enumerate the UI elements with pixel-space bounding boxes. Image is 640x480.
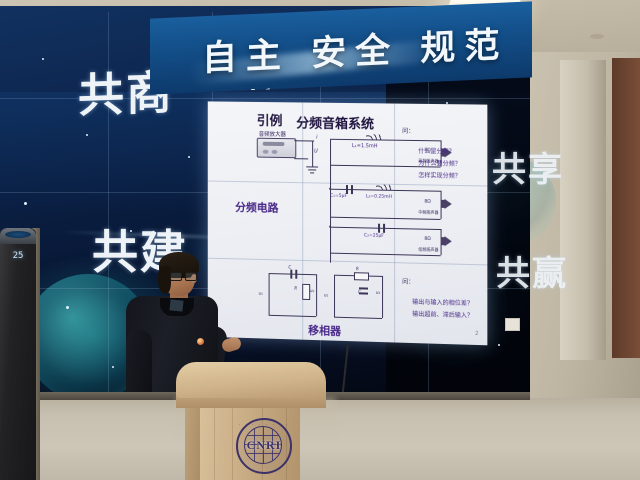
load-low-label: 8Ω [424,237,430,242]
capacitor-mid-label: C₁=5μF [330,194,347,199]
speaker-mid-label: 中频扬声器 [418,209,438,215]
slide-title: 分频音箱系统 [296,112,374,132]
ps-right-in-label: u₁ [324,292,328,297]
question-marker-top: 问： [402,126,414,135]
air-purifier [0,228,36,480]
inductor-mid [376,185,392,191]
star [42,58,44,60]
speaker-low-icon [445,236,452,246]
star [66,306,69,309]
ps-left-shunt-label: R [294,286,297,291]
purifier-indicator-ring [5,231,31,238]
podium-desk [176,362,326,398]
ps-right-right-wire [382,276,383,318]
podium-grain [214,406,215,480]
slide-seam-h2 [208,258,488,266]
inductor-high-label: L₁=1.5mH [352,143,378,149]
ps-right-shunt-label: C [358,289,361,294]
audio-amplifier-icon [257,138,296,158]
circuit-node [329,226,331,228]
purifier-display: 25 [6,250,30,263]
ps-right-bottom [334,317,382,319]
wire-bus-return [312,141,313,167]
star [188,156,190,158]
star [498,344,500,346]
question-bottom-2: 输出超前、滞后输入？ [412,309,473,320]
wall-character-gongxiang: 共享 [492,142,564,191]
wall-outlet[interactable] [505,318,520,331]
star [86,134,88,136]
wire-bus-vertical [330,139,331,263]
star [112,366,114,368]
slide-seam-v1 [302,102,303,339]
wire-low-top [330,227,441,230]
speaker-mid-icon [445,199,452,209]
presenter-shirt [169,299,183,311]
question-bottom-1: 输出与输入的相位差？ [412,297,473,308]
slide-title-prefix: 引例 [257,110,283,129]
ps-left-in-label: u₁ [259,291,263,296]
ps-left-resistor [302,284,310,300]
ps-right-in [334,275,335,317]
ps-right-out-label: u₂ [376,290,380,295]
question-top-3: 怎样实现分频？ [418,170,461,180]
wire-mid-bottom [330,217,441,220]
ceiling-vent [590,34,604,39]
circuit-node [329,188,331,190]
slide-page-number: 2 [475,331,478,337]
photo-scene: 共商 共建 共享 共赢 自主 安全 规范 可控 引例 分频音箱系统 音频放大器 … [0,0,640,480]
ps-left-top [269,273,317,275]
capacitor-low-label: C₂=25μF [364,233,384,238]
slide-seam-h1 [208,181,488,187]
source-label-i: i [316,135,317,141]
phase-shifter-label: 移相器 [308,322,341,339]
wire-low-bottom [330,253,441,257]
ps-left-right-wire [316,274,317,316]
question-top-1: 什么是分频？ [418,146,454,156]
ps-left-out-label: u₂ [310,288,314,293]
source-label-u: U [314,149,318,155]
speaker-low-label: 低频扬声器 [418,247,438,254]
podium-grain [232,406,233,480]
inductor-high [366,134,382,140]
wire-amp-out-bottom [294,158,308,159]
presenter-hair-side [158,266,171,294]
inductor-mid-label: L₂=0.25mH [366,194,392,200]
door-frame [612,58,640,358]
emblem-label: CNRI [238,438,290,453]
wall-column [560,60,606,360]
wall-character-gongying: 共赢 [496,246,568,295]
wire-high-top [330,139,441,142]
ps-left-bottom [269,315,317,317]
ps-right-series-label: R [356,266,359,271]
ps-left-in [269,273,270,315]
ps-right-resistor [354,272,369,280]
mid-circuit-label: 分频电路 [235,199,278,216]
question-marker-bottom: 问： [402,276,414,285]
ps-left-series-label: C [288,265,291,270]
star [24,202,27,205]
lapel-pin-icon [197,338,204,345]
wire-amp-out-top [294,140,314,141]
emblem-arc-dots: · · · · · · · · [238,422,290,427]
load-mid-label: 8Ω [424,199,430,204]
presentation-slide: 引例 分频音箱系统 音频放大器 i U L₁=1.5mH 8Ω 高频扬声器 [208,101,488,345]
question-top-2: 为什么要分频？ [418,158,461,168]
glasses-icon [170,272,196,279]
podium-emblem: · · · · · · · · CNRI [236,418,292,474]
